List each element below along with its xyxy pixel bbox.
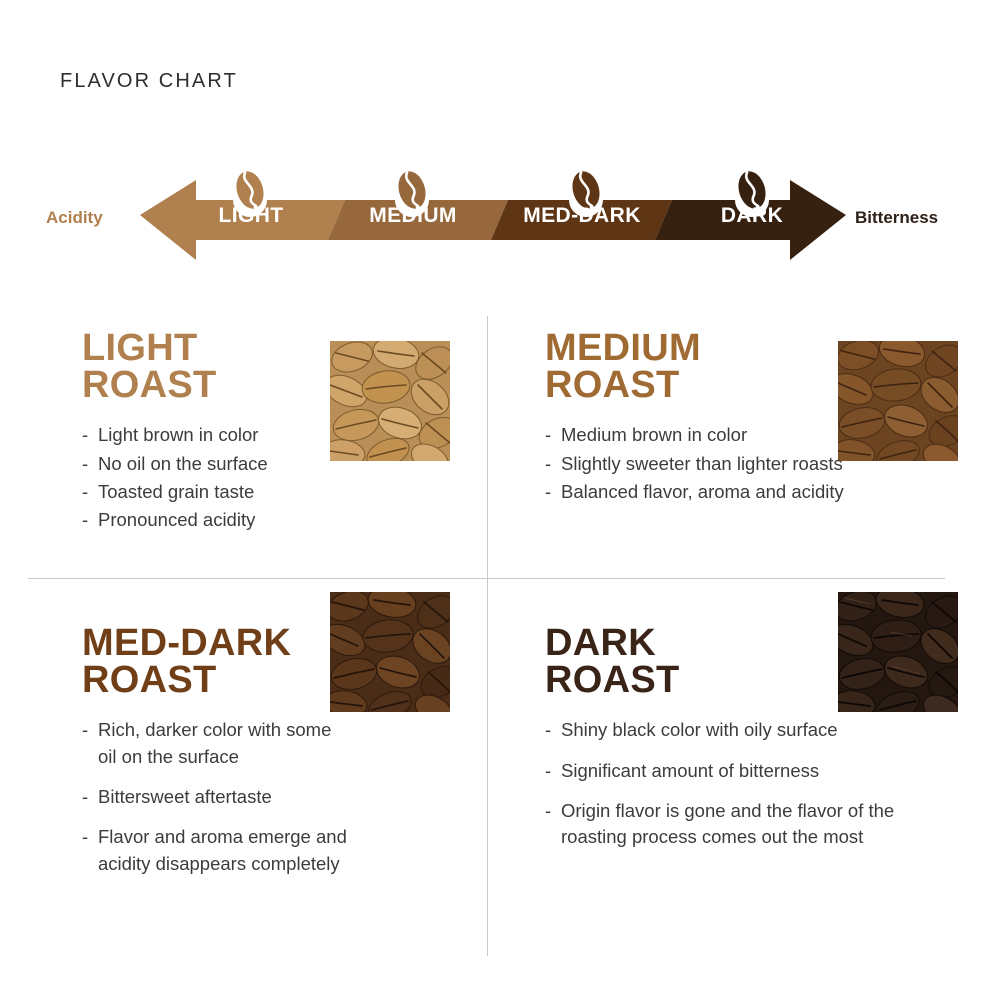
list-item: Origin flavor is gone and the flavor of … (545, 798, 917, 851)
bean-photo-medium (838, 341, 958, 461)
scale-label-bitterness: Bitterness (855, 208, 938, 228)
light-roast-beans-image (330, 341, 450, 461)
list-item: Toasted grain taste (82, 479, 482, 505)
roast-bullets-med-dark: Rich, darker color with some oil on the … (82, 717, 482, 876)
flavor-scale: Acidity Bitterness LIGHT MEDIUM MED-DARK… (0, 160, 1001, 275)
bean-photo-light (330, 341, 450, 461)
scale-segment-label-light: LIGHT (219, 204, 284, 228)
scale-segment-label-med-dark: MED-DARK (523, 204, 641, 228)
scale-segment-label-medium: MEDIUM (369, 204, 457, 228)
scale-label-acidity: Acidity (46, 208, 103, 228)
bean-photo-med-dark (330, 592, 450, 712)
bean-photo-dark (838, 592, 958, 712)
list-item: Shiny black color with oily surface (545, 717, 945, 743)
list-item: Balanced flavor, aroma and acidity (545, 479, 945, 505)
divider-vertical (487, 316, 488, 956)
medium-dark-roast-beans-image (330, 592, 450, 712)
medium-roast-beans-image (838, 341, 958, 461)
list-item: Flavor and aroma emerge and acidity disa… (82, 824, 367, 877)
roast-bullets-dark: Shiny black color with oily surface Sign… (545, 717, 945, 850)
list-item: Bittersweet aftertaste (82, 784, 482, 810)
flavor-scale-graphic (0, 160, 1001, 275)
page-title: FLAVOR CHART (60, 70, 238, 93)
list-item: Rich, darker color with some oil on the … (82, 717, 347, 770)
list-item: Significant amount of bitterness (545, 758, 945, 784)
list-item: Pronounced acidity (82, 507, 482, 533)
dark-roast-beans-image (838, 592, 958, 712)
scale-segment-label-dark: DARK (721, 204, 783, 228)
